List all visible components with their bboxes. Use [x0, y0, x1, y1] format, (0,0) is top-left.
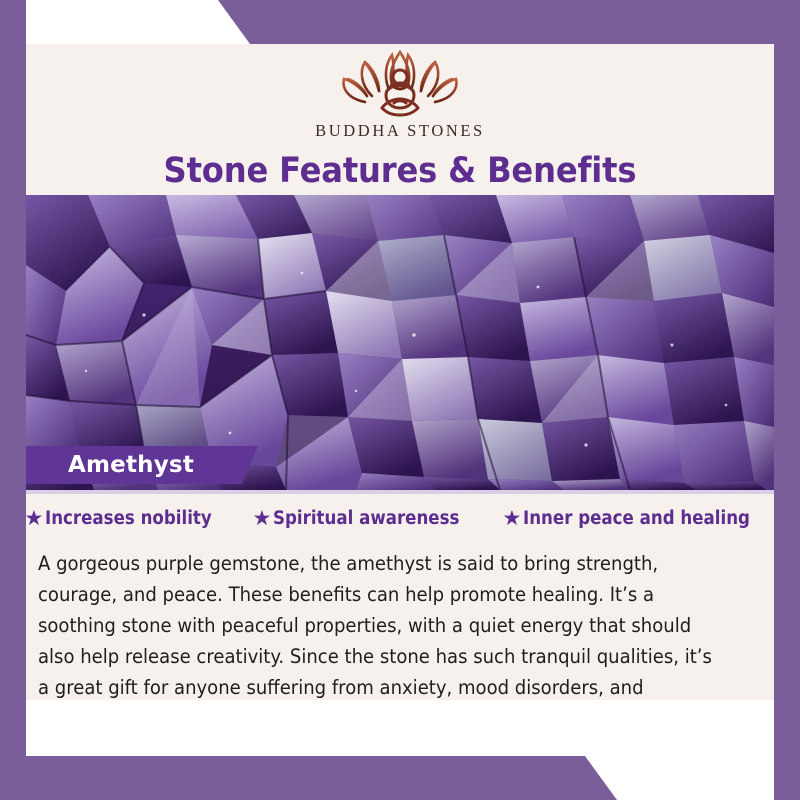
section-divider — [26, 490, 774, 494]
amethyst-photo — [26, 195, 774, 490]
stone-name: Amethyst — [68, 452, 194, 478]
stone-name-ribbon: Amethyst — [26, 446, 258, 484]
feature-label: Increases nobility — [45, 508, 212, 529]
amethyst-crystal-cluster-graphic — [26, 195, 774, 490]
star-icon: ★ — [253, 508, 272, 529]
feature-item: ★ Increases nobility — [26, 508, 231, 529]
frame-border-right — [774, 0, 800, 800]
title-bar: Stone Features & Benefits — [26, 147, 774, 195]
feature-item: ★ Inner peace and healing — [503, 508, 775, 529]
features-row: ★ Increases nobility ★ Spiritual awarene… — [26, 508, 774, 529]
lotus-meditation-figure-logo-icon — [334, 46, 466, 120]
frame-border-top — [0, 0, 800, 44]
frame-border-left — [0, 0, 26, 800]
frame-corner-top-right — [774, 44, 800, 52]
bottom-white-space — [26, 700, 774, 756]
frame-border-bottom — [0, 756, 800, 800]
feature-item: ★ Spiritual awareness — [253, 508, 481, 529]
brand-name: BUDDHA STONES — [315, 121, 485, 141]
page-title: Stone Features & Benefits — [164, 151, 637, 191]
feature-label: Inner peace and healing — [523, 508, 750, 529]
star-icon: ★ — [26, 508, 43, 529]
feature-label: Spiritual awareness — [273, 508, 459, 529]
content-card: BUDDHA STONES Stone Features & Benefits — [26, 44, 774, 756]
infographic-page: BUDDHA STONES Stone Features & Benefits — [0, 0, 800, 800]
brand-header: BUDDHA STONES — [26, 44, 774, 147]
star-icon: ★ — [503, 508, 522, 529]
